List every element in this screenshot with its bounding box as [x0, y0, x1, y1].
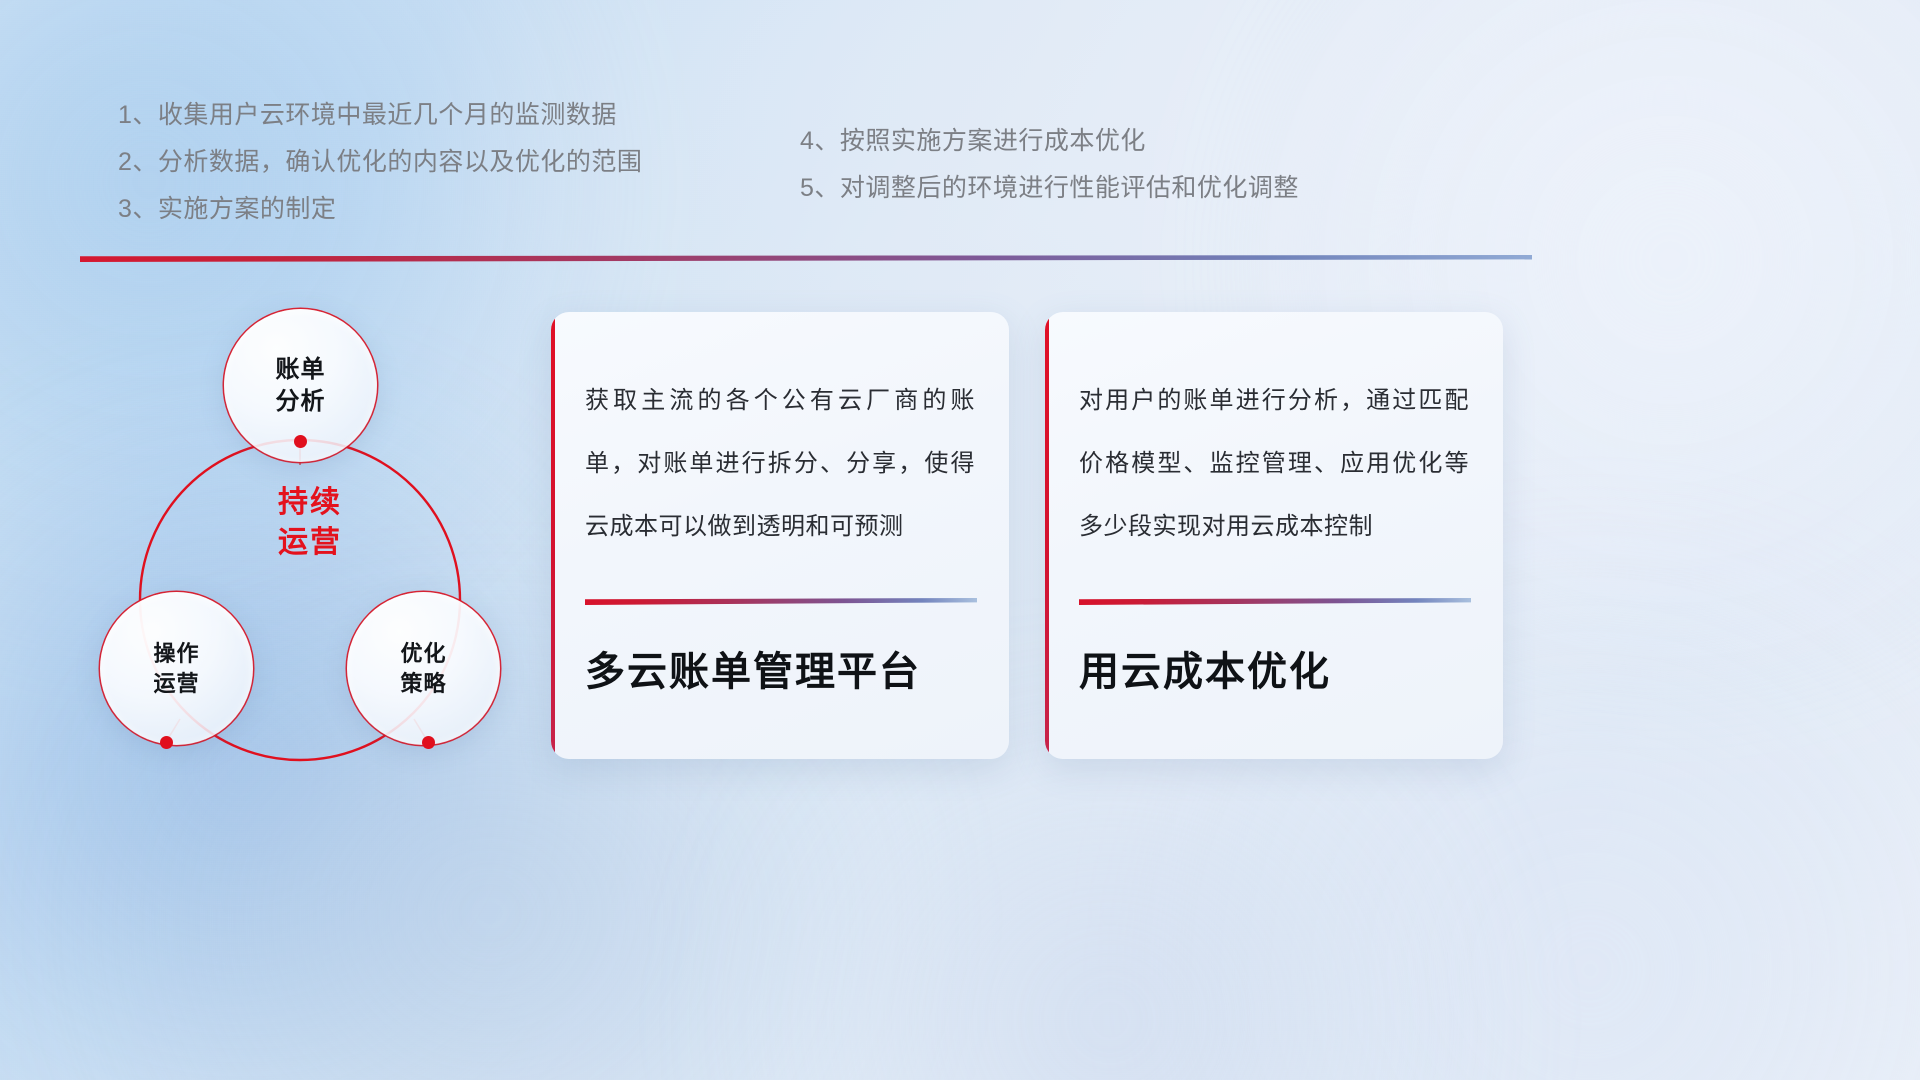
step-item-5: 5、对调整后的环境进行性能评估和优化调整 [800, 165, 1299, 212]
venn-center-line1: 持续 [250, 483, 370, 523]
venn-bubble-top-line1: 账单 [276, 354, 326, 386]
venn-bubble-bl-line2: 运营 [153, 669, 199, 699]
venn-bubble-operations[interactable]: 操作 运营 [100, 592, 253, 745]
step-item-4: 4、按照实施方案进行成本优化 [800, 118, 1299, 165]
venn-node-dot-top [294, 435, 307, 448]
venn-diagram: 账单 分析 操作 运营 优化 策略 持续 运营 [82, 295, 537, 760]
venn-bubble-top-line2: 分析 [276, 386, 326, 418]
step-item-1: 1、收集用户云环境中最近几个月的监测数据 [118, 92, 642, 139]
card-2-title: 用云成本优化 [1079, 644, 1469, 700]
venn-bubble-br-line1: 优化 [400, 639, 446, 669]
venn-node-dot-bottom-right [422, 736, 435, 749]
card-multicloud-billing[interactable]: 获取主流的各个公有云厂商的账单，对账单进行拆分、分享，使得云成本可以做到透明和可… [551, 312, 1009, 759]
steps-left-column: 1、收集用户云环境中最近几个月的监测数据 2、分析数据，确认优化的内容以及优化的… [118, 92, 642, 233]
card-2-divider [1079, 598, 1471, 605]
step-item-2: 2、分析数据，确认优化的内容以及优化的范围 [118, 139, 642, 186]
venn-bubble-optimization-strategy[interactable]: 优化 策略 [347, 592, 500, 745]
card-1-description: 获取主流的各个公有云厂商的账单，对账单进行拆分、分享，使得云成本可以做到透明和可… [585, 369, 975, 558]
card-2-description: 对用户的账单进行分析，通过匹配价格模型、监控管理、应用优化等多少段实现对用云成本… [1079, 369, 1469, 558]
venn-bubble-bl-line1: 操作 [153, 639, 199, 669]
card-1-divider [585, 598, 977, 605]
card-1-title: 多云账单管理平台 [585, 644, 975, 700]
steps-right-column: 4、按照实施方案进行成本优化 5、对调整后的环境进行性能评估和优化调整 [800, 118, 1299, 212]
card-cloud-cost-optimization[interactable]: 对用户的账单进行分析，通过匹配价格模型、监控管理、应用优化等多少段实现对用云成本… [1045, 312, 1503, 759]
venn-bubble-br-line2: 策略 [400, 669, 446, 699]
venn-node-dot-bottom-left [160, 736, 173, 749]
step-item-3: 3、实施方案的制定 [118, 186, 642, 233]
venn-center-label: 持续 运营 [250, 483, 370, 563]
card-2-body: 对用户的账单进行分析，通过匹配价格模型、监控管理、应用优化等多少段实现对用云成本… [1045, 312, 1503, 558]
venn-center-line2: 运营 [250, 523, 370, 563]
card-1-body: 获取主流的各个公有云厂商的账单，对账单进行拆分、分享，使得云成本可以做到透明和可… [551, 312, 1009, 558]
